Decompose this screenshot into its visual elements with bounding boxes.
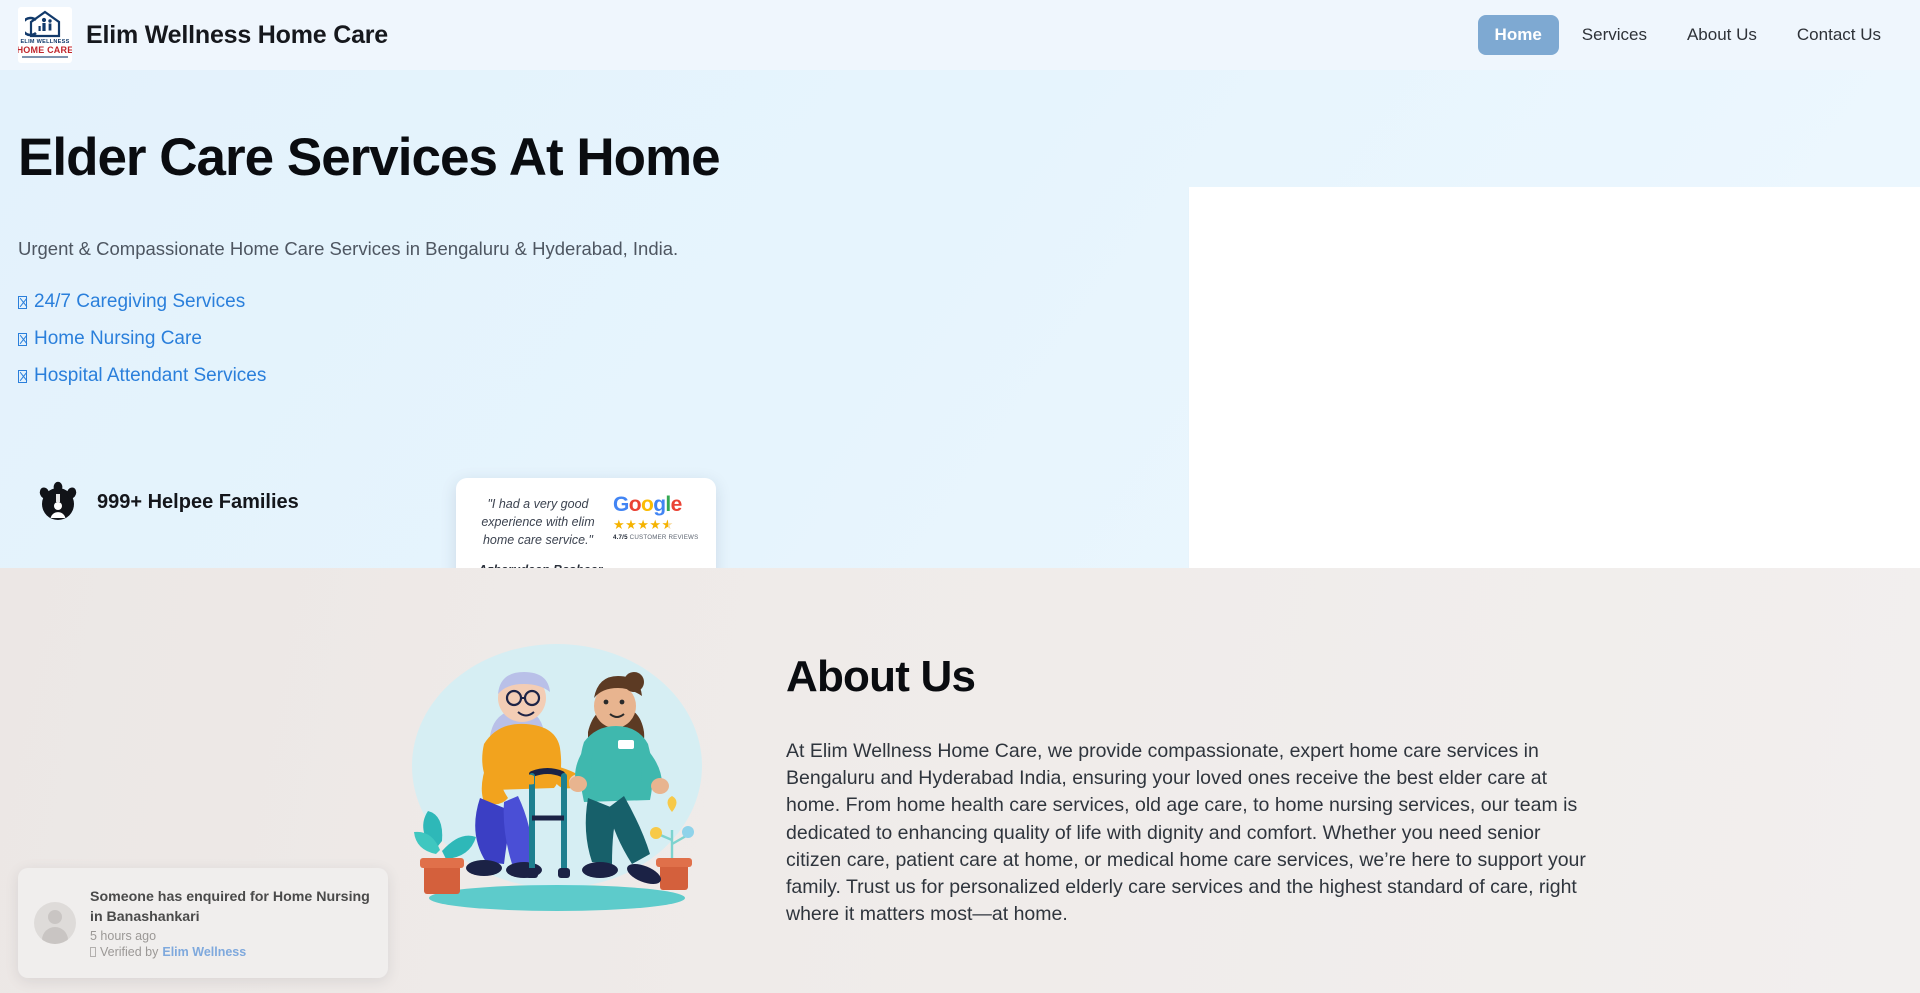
hero-feature-hospital-attendant[interactable]: Hospital Attendant Services [18, 364, 266, 388]
about-content: About Us At Elim Wellness Home Care, we … [786, 652, 1586, 928]
toast-body: Someone has enquired for Home Nursing in… [90, 887, 372, 959]
site-header: ELIM WELLNESS HOME CARE Elim Wellness Ho… [0, 0, 1920, 70]
family-group-icon [36, 480, 80, 524]
toast-verified-brand[interactable]: Elim Wellness [162, 945, 246, 959]
rating-value: 4.7/5 [613, 534, 628, 541]
hero-section: Elder Care Services At Home Urgent & Com… [0, 70, 1920, 568]
toast-verified-row: Verified by Elim Wellness [90, 945, 372, 959]
google-review-card[interactable]: "I had a very good experience with elim … [456, 478, 716, 568]
google-rating-block: Google ★★★★★★ 4.7/5 CUSTOMER REVIEWS [613, 492, 701, 549]
families-label: 999+ Helpee Families [97, 491, 299, 514]
google-logo-icon: Google [613, 494, 701, 516]
nav-item-home[interactable]: Home [1478, 15, 1559, 55]
missing-glyph-box-icon [18, 370, 27, 383]
toast-message[interactable]: Someone has enquired for Home Nursing in… [90, 887, 372, 927]
rating-caption: 4.7/5 CUSTOMER REVIEWS [613, 534, 701, 541]
generic-person-avatar-icon [34, 902, 76, 944]
hero-feature-label: Home Nursing Care [34, 327, 202, 351]
hero-content: Elder Care Services At Home Urgent & Com… [18, 128, 1118, 401]
elderly-woman-with-walker-and-nurse-illustration [372, 636, 732, 926]
missing-glyph-box-icon [18, 333, 27, 346]
hero-feature-list: 24/7 Caregiving Services Home Nursing Ca… [18, 290, 1118, 388]
hero-feature-label: 24/7 Caregiving Services [34, 290, 245, 314]
social-proof-row: 999+ Helpee Families [36, 480, 299, 524]
brand-name: Elim Wellness Home Care [86, 21, 388, 50]
landing-page: ELIM WELLNESS HOME CARE Elim Wellness Ho… [0, 0, 1920, 993]
hero-media-panel[interactable] [1189, 187, 1920, 568]
missing-glyph-box-icon [18, 296, 27, 309]
review-quote: "I had a very good experience with elim … [471, 492, 605, 549]
nav-item-services[interactable]: Services [1565, 15, 1664, 55]
hero-feature-label: Hospital Attendant Services [34, 364, 266, 388]
star-rating-icon: ★★★★★★ [613, 518, 701, 532]
nav-item-contact-us[interactable]: Contact Us [1780, 15, 1898, 55]
about-title: About Us [786, 652, 1586, 702]
logo-line2: HOME CARE [18, 45, 72, 55]
about-paragraph: At Elim Wellness Home Care, we provide c… [786, 738, 1586, 928]
logo-divider [22, 56, 68, 58]
house-family-logo-icon: ELIM WELLNESS HOME CARE [18, 7, 72, 63]
page-title: Elder Care Services At Home [18, 128, 1118, 188]
main-nav: Home Services About Us Contact Us [1478, 15, 1898, 55]
hero-subtitle: Urgent & Compassionate Home Care Service… [18, 236, 1118, 262]
hero-feature-home-nursing[interactable]: Home Nursing Care [18, 327, 202, 351]
nav-item-about-us[interactable]: About Us [1670, 15, 1774, 55]
rating-caption-text: CUSTOMER REVIEWS [630, 534, 699, 541]
hero-feature-caregiving[interactable]: 24/7 Caregiving Services [18, 290, 245, 314]
toast-verified-label: Verified by [100, 945, 158, 959]
brand[interactable]: ELIM WELLNESS HOME CARE Elim Wellness Ho… [18, 7, 388, 63]
toast-timestamp: 5 hours ago [90, 929, 372, 943]
families-badge: 999+ Helpee Families [36, 480, 299, 524]
enquiry-notification-toast[interactable]: Someone has enquired for Home Nursing in… [18, 868, 388, 978]
missing-glyph-box-icon [90, 947, 96, 957]
